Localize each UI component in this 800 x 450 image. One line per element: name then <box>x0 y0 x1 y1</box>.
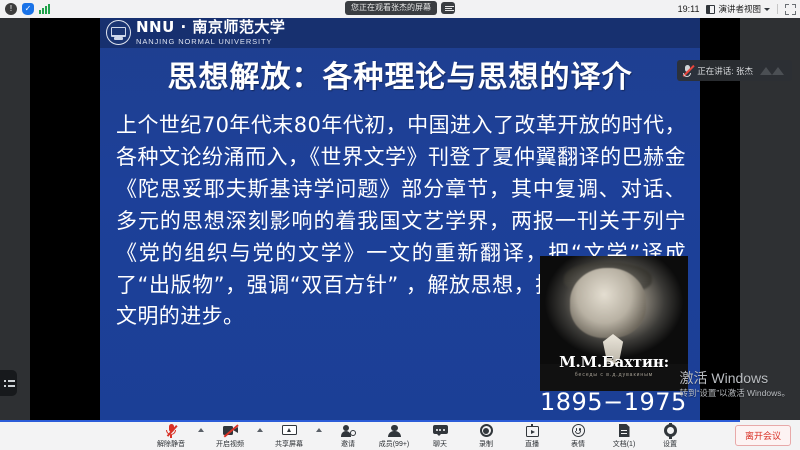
active-speaker-label: 正在讲话: 张杰 <box>697 65 753 77</box>
toolbar-button-record[interactable]: 录制 <box>463 421 509 449</box>
invite-icon <box>341 423 356 438</box>
camera-off-icon <box>223 423 238 438</box>
chevron-down-icon[interactable] <box>764 8 770 11</box>
fullscreen-icon[interactable] <box>785 4 796 15</box>
toolbar-label: 表情 <box>571 439 585 449</box>
toolbar-button-chat[interactable]: 聊天 <box>417 421 463 449</box>
toolbar-label: 解除静音 <box>157 439 185 449</box>
power-icon: ! <box>5 3 17 15</box>
logo-name-cn: NNU · 南京师范大学 <box>136 20 285 35</box>
portrait-photo <box>540 256 688 364</box>
university-seal-icon <box>106 20 131 45</box>
share-notice-group: 您正在观看张杰的屏幕 <box>345 1 455 15</box>
toolbar-button-settings[interactable]: 设置 <box>647 421 693 449</box>
top-bar-right: 19:11 演讲者视图 <box>678 0 796 18</box>
clock: 19:11 <box>678 4 700 14</box>
mic-muted-icon <box>682 64 692 77</box>
toolbar-button-share-screen[interactable]: 共享屏幕 <box>266 421 312 449</box>
speaker-view-icon <box>706 5 715 14</box>
participants-icon <box>387 423 401 438</box>
share-screen-icon <box>282 423 297 438</box>
toolbar-label: 邀请 <box>341 439 355 449</box>
toolbar-button-start-video[interactable]: 开启视频 <box>207 421 253 449</box>
chevron-up-icon <box>257 428 263 432</box>
share-notice: 您正在观看张杰的屏幕 <box>345 1 437 15</box>
university-logo: NNU · 南京师范大学 NANJING NORMAL UNIVERSITY <box>106 20 285 45</box>
bakhtin-portrait: М.М.Бахтин: беседы с в.д.дувакиным <box>540 256 688 391</box>
portrait-face <box>570 268 646 338</box>
toolbar-label: 聊天 <box>433 439 447 449</box>
document-icon <box>619 423 630 438</box>
audio-wave-icon <box>760 67 784 75</box>
record-icon <box>480 423 493 438</box>
slide-header-band: NNU · 南京师范大学 NANJING NORMAL UNIVERSITY <box>100 18 700 48</box>
logo-name-en: NANJING NORMAL UNIVERSITY <box>136 38 285 46</box>
toolbar-label: 共享屏幕 <box>275 439 303 449</box>
toolbar-label: 成员(99+) <box>379 439 410 449</box>
portrait-name: М.М.Бахтин: <box>540 353 688 371</box>
meeting-toolbar: 解除静音 开启视频 共享屏幕 邀请 <box>0 420 800 450</box>
toolbar-button-invite[interactable]: 邀请 <box>325 421 371 449</box>
video-options-arrow[interactable] <box>253 421 266 432</box>
shield-icon: ✓ <box>22 3 34 15</box>
participants-panel-handle[interactable] <box>0 370 17 396</box>
toolbar-accent-line <box>0 420 740 422</box>
toolbar-label: 开启视频 <box>216 439 244 449</box>
toolbar-label: 录制 <box>479 439 493 449</box>
mic-muted-icon <box>166 423 177 438</box>
toolbar-label: 直播 <box>525 439 539 449</box>
portrait-caption: беседы с в.д.дувакиным <box>540 372 688 378</box>
toolbar-label: 文档(1) <box>613 439 636 449</box>
toolbar-button-emoji[interactable]: 表情 <box>555 421 601 449</box>
mic-options-arrow[interactable] <box>194 421 207 432</box>
signal-icon <box>39 4 50 14</box>
view-mode-selector[interactable]: 演讲者视图 <box>706 3 770 15</box>
toolbar-button-documents[interactable]: 文档(1) <box>601 421 647 449</box>
divider <box>777 4 778 14</box>
live-icon <box>526 423 539 438</box>
toolbar-buttons: 解除静音 开启视频 共享屏幕 邀请 <box>148 421 693 449</box>
shared-screen-stage: NNU · 南京师范大学 NANJING NORMAL UNIVERSITY 思… <box>0 18 800 420</box>
chevron-up-icon <box>316 428 322 432</box>
share-options-arrow[interactable] <box>312 421 325 432</box>
presentation-slide: NNU · 南京师范大学 NANJING NORMAL UNIVERSITY 思… <box>100 18 700 420</box>
top-bar: ! ✓ 您正在观看张杰的屏幕 19:11 演讲者视图 <box>0 0 800 18</box>
gear-icon <box>664 423 677 438</box>
leave-meeting-button[interactable]: 离开会议 <box>735 425 791 446</box>
toolbar-button-live[interactable]: 直播 <box>509 421 555 449</box>
toolbar-button-unmute[interactable]: 解除静音 <box>148 421 194 449</box>
active-speaker-chip[interactable]: 正在讲话: 张杰 <box>677 60 792 81</box>
top-bar-status-icons: ! ✓ <box>0 3 50 15</box>
zoom-meeting-window: ! ✓ 您正在观看张杰的屏幕 19:11 演讲者视图 <box>0 0 800 450</box>
chevron-up-icon <box>198 428 204 432</box>
toolbar-label: 设置 <box>663 439 677 449</box>
view-mode-label: 演讲者视图 <box>718 3 761 15</box>
toolbar-button-participants[interactable]: 成员(99+) <box>371 421 417 449</box>
share-options-menu-icon[interactable] <box>441 2 455 14</box>
slide-title: 思想解放：各种理论与思想的译介 <box>100 52 700 96</box>
chat-icon <box>433 423 448 438</box>
emoji-icon <box>572 423 585 438</box>
portrait-years: 1895−1975 <box>540 388 686 416</box>
